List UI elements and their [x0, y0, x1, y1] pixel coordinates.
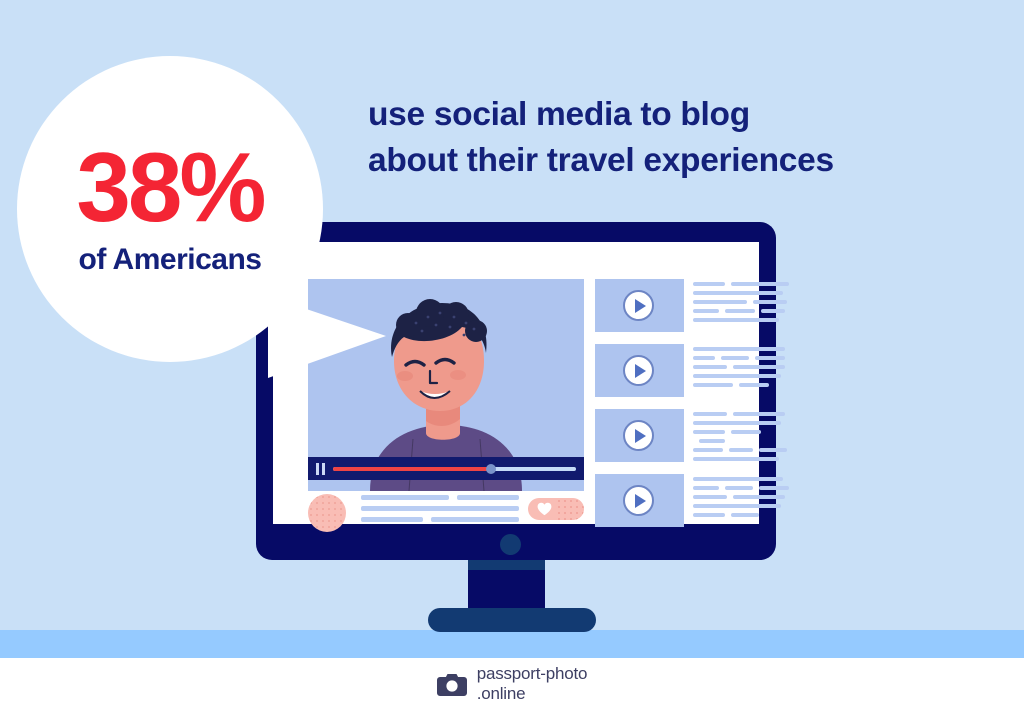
placeholder-line [739, 383, 769, 387]
placeholder-row [693, 282, 789, 291]
brand-line-2: .online [477, 684, 588, 704]
power-indicator-dot [500, 534, 521, 555]
placeholder-row [693, 374, 789, 383]
placeholder-line [693, 309, 719, 313]
placeholder-line [725, 309, 755, 313]
camera-icon [437, 672, 467, 697]
placeholder-line [725, 486, 753, 490]
infographic-canvas: use social media to blog about their tra… [0, 0, 1024, 724]
headline-line-1: use social media to blog [368, 92, 996, 138]
placeholder-line [699, 439, 725, 443]
play-icon[interactable] [623, 355, 654, 386]
placeholder-row [693, 504, 789, 513]
placeholder-line [693, 477, 783, 481]
placeholder-line [693, 430, 725, 434]
placeholder-line [733, 365, 785, 369]
placeholder-line [693, 421, 781, 425]
placeholder-line [693, 374, 781, 378]
statistic-percentage: 38% [76, 141, 263, 234]
placeholder-line [729, 448, 753, 452]
placeholder-line [693, 513, 725, 517]
monitor-stand-base [428, 608, 596, 632]
playlist-item[interactable] [595, 474, 743, 527]
placeholder-line [693, 412, 727, 416]
placeholder-line [693, 365, 727, 369]
statistic-subtitle: of Americans [79, 243, 262, 277]
placeholder-row [693, 383, 789, 392]
video-meta-row [308, 490, 584, 535]
play-icon[interactable] [623, 290, 654, 321]
placeholder-row [693, 486, 789, 495]
playlist-text-placeholder [693, 282, 789, 327]
play-icon[interactable] [623, 420, 654, 451]
placeholder-row [693, 300, 789, 309]
placeholder-row [693, 365, 789, 374]
placeholder-line [759, 448, 787, 452]
placeholder-row [693, 412, 789, 421]
placeholder-line [733, 412, 785, 416]
placeholder-line [759, 486, 789, 490]
playlist-text-placeholder [693, 477, 789, 522]
placeholder-line [731, 430, 761, 434]
playlist-text-placeholder [693, 347, 789, 392]
placeholder-row [693, 513, 789, 522]
placeholder-row [693, 495, 789, 504]
statistic-callout: 38% of Americans [17, 56, 323, 362]
placeholder-line [753, 300, 787, 304]
placeholder-row [693, 356, 789, 365]
placeholder-line [761, 309, 785, 313]
play-triangle [635, 299, 646, 313]
page-title: use social media to blog about their tra… [368, 92, 996, 184]
progress-knob[interactable] [486, 464, 496, 474]
playlist-item[interactable] [595, 344, 743, 397]
background-band-blue [0, 630, 1024, 658]
playlist-text-placeholder [693, 412, 789, 466]
brand-line-1: passport-photo [477, 664, 588, 684]
placeholder-line [731, 282, 789, 286]
placeholder-row [693, 430, 789, 448]
play-triangle [635, 494, 646, 508]
heart-icon [537, 502, 552, 516]
placeholder-row [693, 318, 789, 327]
placeholder-line [731, 513, 759, 517]
placeholder-line [693, 457, 779, 461]
placeholder-row [693, 477, 789, 486]
placeholder-line [693, 318, 779, 322]
placeholder-row [693, 421, 789, 430]
progress-fill [333, 467, 491, 471]
placeholder-line [693, 282, 725, 286]
footer-logo: passport-photo .online [0, 664, 1024, 704]
placeholder-line [693, 300, 747, 304]
monitor [256, 222, 776, 560]
monitor-screen [273, 242, 759, 524]
play-triangle [635, 429, 646, 443]
playlist-item[interactable] [595, 409, 743, 462]
placeholder-row [693, 448, 789, 457]
placeholder-line [693, 347, 785, 351]
placeholder-line [693, 356, 715, 360]
placeholder-line [733, 495, 785, 499]
placeholder-line [693, 383, 733, 387]
progress-track[interactable] [333, 467, 576, 471]
like-button[interactable] [528, 498, 584, 520]
placeholder-line [721, 356, 749, 360]
placeholder-line [755, 356, 785, 360]
placeholder-row [693, 291, 789, 300]
play-triangle [635, 364, 646, 378]
brand-name: passport-photo .online [477, 664, 588, 704]
play-icon[interactable] [623, 485, 654, 516]
placeholder-row [693, 347, 789, 356]
monitor-stand-neck [468, 570, 545, 608]
video-controls[interactable] [308, 457, 584, 480]
avatar[interactable] [308, 494, 346, 532]
placeholder-row [693, 457, 789, 466]
headline-line-2: about their travel experiences [368, 138, 996, 184]
placeholder-line [693, 495, 727, 499]
placeholder-line [693, 504, 781, 508]
video-playlist[interactable] [595, 279, 743, 539]
placeholder-line [693, 291, 783, 295]
placeholder-line [693, 486, 719, 490]
pause-icon[interactable] [316, 463, 325, 475]
placeholder-row [693, 309, 789, 318]
placeholder-line [693, 448, 723, 452]
playlist-item[interactable] [595, 279, 743, 332]
video-description-placeholder [361, 495, 521, 528]
